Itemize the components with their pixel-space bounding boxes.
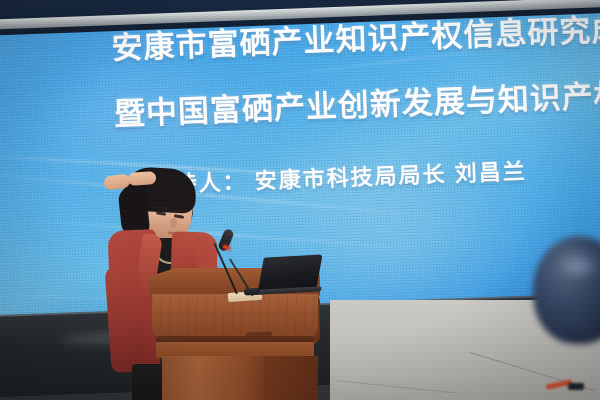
hand-right [128, 171, 157, 186]
podium-surface-mark [246, 332, 272, 338]
podium-column-shadow [264, 356, 318, 400]
conference-photo-scene: 安康市富硒产业知识产权信息研究成果发布 暨中国富硒产业创新发展与知识产权论坛 持… [0, 0, 600, 400]
podium-column [162, 356, 264, 400]
foreground-head-highlight [556, 252, 600, 280]
foreground-dark-object [568, 383, 584, 390]
